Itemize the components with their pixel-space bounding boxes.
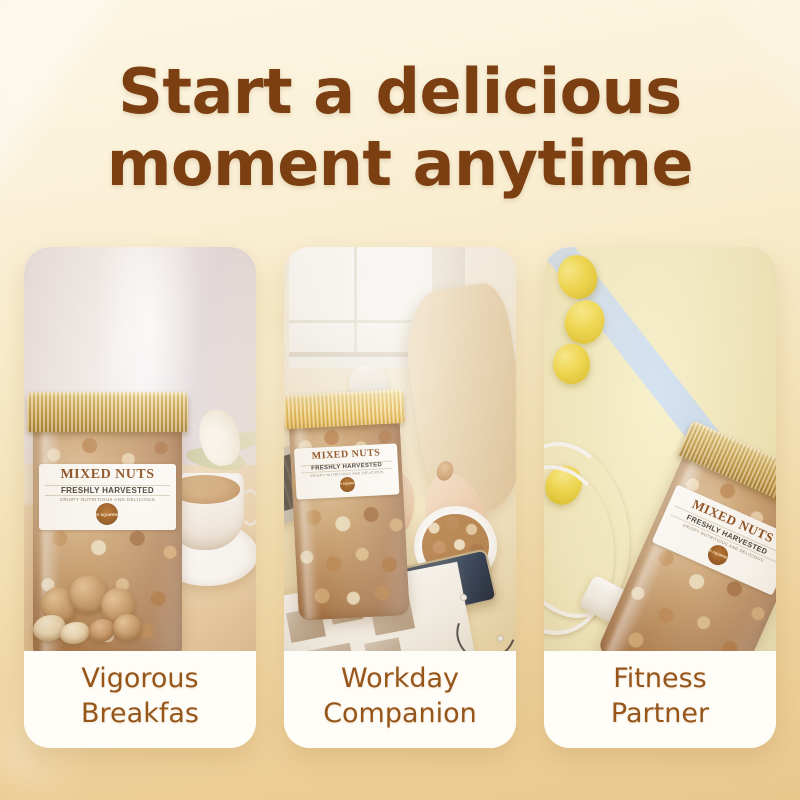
card-photo-fitness: MIXED NUTS FRESHLY HARVESTED CRISPY NUTR… bbox=[544, 247, 776, 651]
jar-lid bbox=[284, 389, 405, 429]
caption-line-2: Breakfas bbox=[81, 697, 199, 732]
brand-seal-text: MR SQUIRREL bbox=[96, 512, 118, 517]
card-vigorous-breakfast[interactable]: MIXED NUTS FRESHLY HARVESTED CRISPY NUTR… bbox=[24, 247, 256, 748]
scene-office-desk: MIXED NUTS FRESHLY HARVESTED CRISPY NUTR… bbox=[284, 247, 516, 651]
caption-line-1: Fitness bbox=[611, 662, 709, 697]
magazine-image-block bbox=[306, 643, 356, 651]
card-caption-workday: Workday Companion bbox=[284, 651, 516, 748]
card-workday-companion[interactable]: MIXED NUTS FRESHLY HARVESTED CRISPY NUTR… bbox=[284, 247, 516, 748]
lemon-icon bbox=[551, 342, 593, 387]
nut-pile bbox=[33, 566, 154, 651]
cashew-icon bbox=[60, 622, 89, 644]
label-title: MIXED NUTS bbox=[41, 468, 174, 483]
card-caption-fitness: Fitness Partner bbox=[544, 651, 776, 748]
walnut-icon bbox=[113, 614, 142, 641]
magazine-image-block bbox=[364, 638, 405, 651]
nut-jar-product: MIXED NUTS FRESHLY HARVESTED CRISPY NUTR… bbox=[287, 390, 410, 622]
caption-line-1: Vigorous bbox=[81, 662, 199, 697]
window-mullion bbox=[354, 247, 357, 352]
card-photo-workday: MIXED NUTS FRESHLY HARVESTED CRISPY NUTR… bbox=[284, 247, 516, 651]
caption-line-2: Partner bbox=[611, 697, 709, 732]
caption-line-2: Companion bbox=[323, 697, 477, 732]
brand-seal-text: MR SQUIRREL bbox=[707, 548, 731, 561]
card-caption-breakfast: Vigorous Breakfas bbox=[24, 651, 256, 748]
headline-line-1: Start a delicious bbox=[0, 56, 800, 128]
almond-icon bbox=[89, 619, 116, 643]
cup-handle bbox=[240, 489, 256, 525]
brand-seal-badge: MR SQUIRREL bbox=[340, 477, 356, 493]
brand-seal-text: MR SQUIRREL bbox=[340, 483, 356, 487]
jar-lid bbox=[27, 392, 187, 432]
card-photo-breakfast: MIXED NUTS FRESHLY HARVESTED CRISPY NUTR… bbox=[24, 247, 256, 651]
scene-kitchen-table: MIXED NUTS FRESHLY HARVESTED CRISPY NUTR… bbox=[24, 247, 256, 651]
card-fitness-partner[interactable]: MIXED NUTS FRESHLY HARVESTED CRISPY NUTR… bbox=[544, 247, 776, 748]
label-tagline: CRISPY NUTRITIOUS AND DELICIOUS bbox=[41, 497, 174, 502]
page-title: Start a delicious moment anytime bbox=[0, 56, 800, 200]
promo-poster: Start a delicious moment anytime bbox=[0, 0, 800, 800]
headline-line-2: moment anytime bbox=[0, 128, 800, 200]
scene-fitness-flatlay: MIXED NUTS FRESHLY HARVESTED CRISPY NUTR… bbox=[544, 247, 776, 651]
card-row: MIXED NUTS FRESHLY HARVESTED CRISPY NUTR… bbox=[24, 247, 776, 748]
brand-seal-badge: MR SQUIRREL bbox=[96, 503, 118, 525]
label-subtitle: FRESHLY HARVESTED bbox=[45, 485, 170, 496]
jar-front-label: MIXED NUTS FRESHLY HARVESTED CRISPY NUTR… bbox=[39, 464, 176, 530]
jar-front-label: MIXED NUTS FRESHLY HARVESTED CRISPY NUTR… bbox=[295, 444, 400, 500]
caption-line-1: Workday bbox=[323, 662, 477, 697]
